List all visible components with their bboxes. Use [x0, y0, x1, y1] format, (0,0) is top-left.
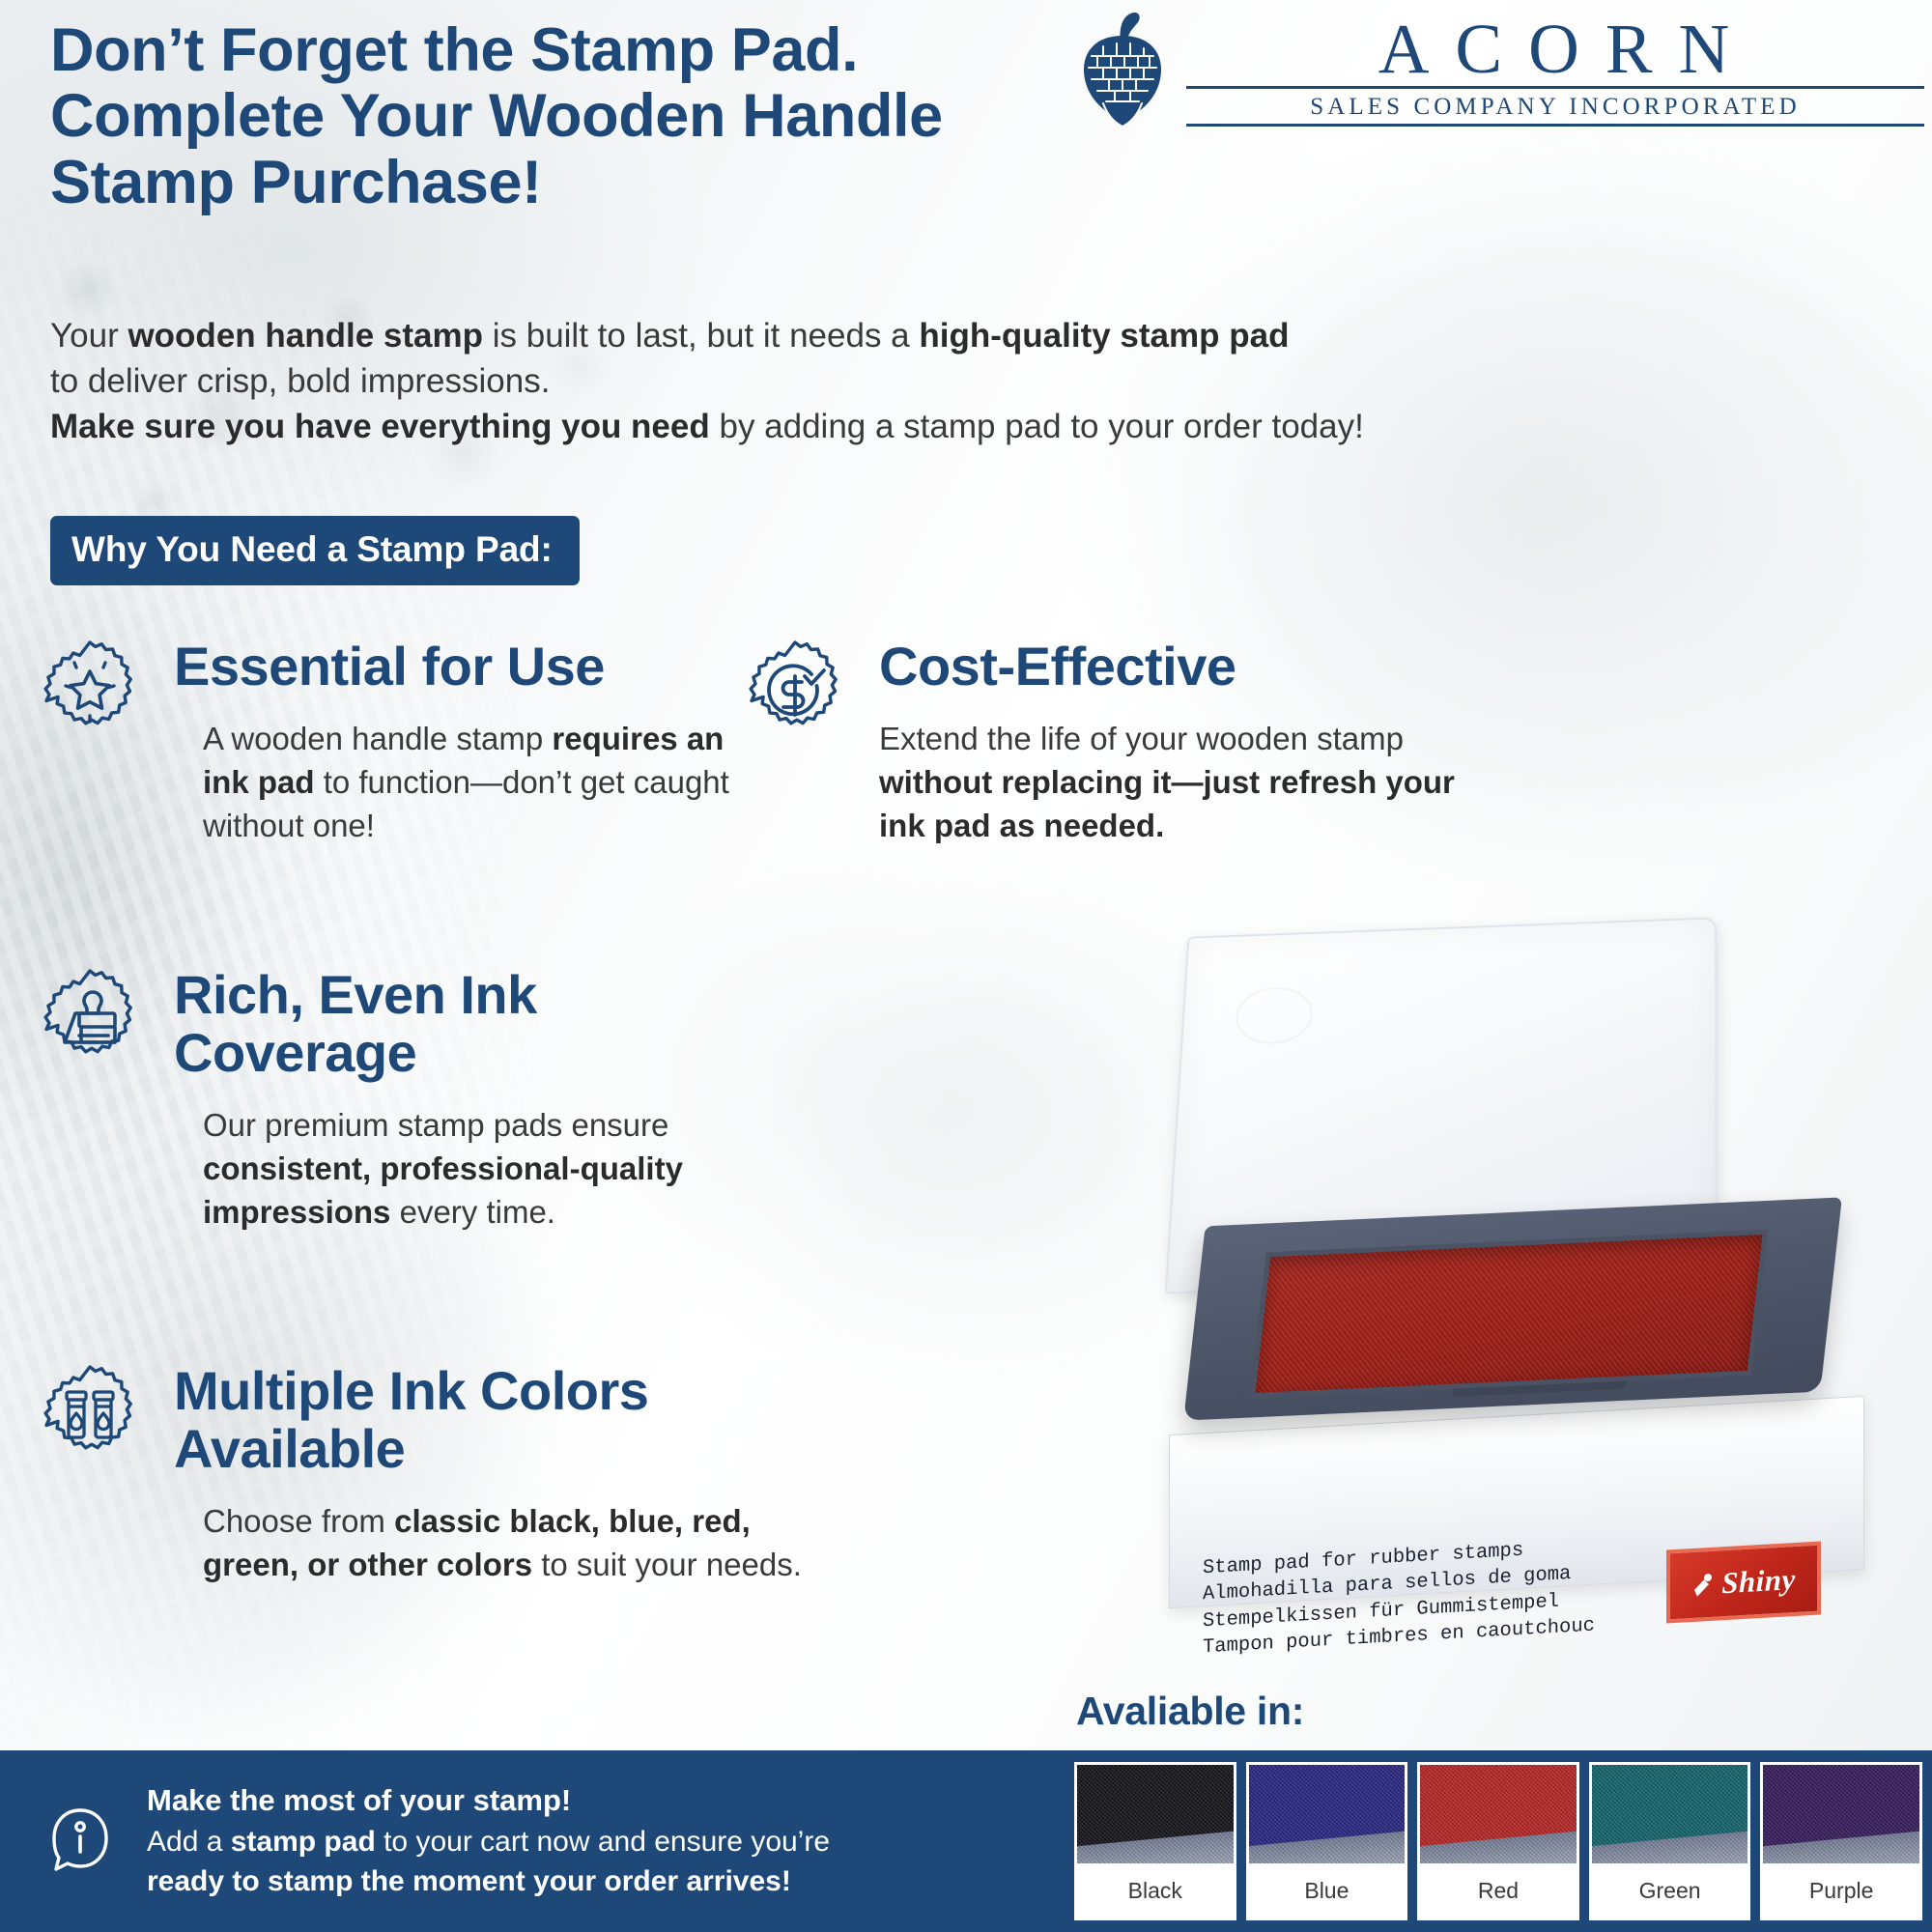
swatch-label: Blue [1249, 1863, 1406, 1918]
swatch-black[interactable]: Black [1074, 1762, 1236, 1920]
color-swatch-strip: Black Blue Red Green Purple [1065, 1750, 1932, 1932]
intro-1a: Your [50, 317, 128, 355]
intro-line-1: Your wooden handle stamp is built to las… [50, 314, 1422, 359]
intro-line-3: Make sure you have everything you need b… [50, 405, 1422, 450]
headline-line-3: Stamp Purchase! [50, 150, 1238, 215]
logo-wordmark: ACORN SALES COMPANY INCORPORATED [1186, 14, 1924, 128]
product-box-label: Stamp pad for rubber stamps Almohadilla … [1203, 1532, 1628, 1662]
feature-text: Choose from classic black, blue, red, gr… [174, 1499, 829, 1586]
infographic-page: Don’t Forget the Stamp Pad. Complete You… [0, 0, 1932, 1932]
cta-text: Make the most of your stamp! Add a stamp… [147, 1780, 830, 1902]
acorn-icon [1074, 12, 1171, 129]
stamp-pad-ink-surface [1250, 1230, 1768, 1399]
feature-text-a: Choose from [203, 1503, 394, 1539]
cta-line-1: Make the most of your stamp! [147, 1780, 830, 1822]
swatch-label: Black [1077, 1863, 1234, 1918]
cta-line-3-text: ready to stamp the moment your order arr… [147, 1865, 791, 1897]
logo-rules: SALES COMPANY INCORPORATED [1186, 86, 1924, 127]
feature-title: Cost-Effective [879, 638, 1505, 696]
intro-1d: high-quality stamp pad [919, 317, 1289, 355]
badge-star-icon [37, 638, 143, 744]
page-title: Don’t Forget the Stamp Pad. Complete You… [50, 17, 1238, 215]
brand-tagline: SALES COMPANY INCORPORATED [1186, 94, 1924, 121]
badge-dollar-check-icon [742, 638, 848, 744]
shiny-brand-badge: Shiny [1666, 1542, 1821, 1624]
cta-line-2b: stamp pad [231, 1826, 376, 1858]
feature-cost-effective: Cost-Effective Extend the life of your w… [742, 638, 1505, 848]
feature-text-a: A wooden handle stamp [203, 721, 552, 756]
feature-body: Essential for Use A wooden handle stamp … [37, 638, 771, 848]
feature-multiple-ink-colors: Multiple Ink Colors Available Choose fro… [37, 1362, 829, 1586]
intro-paragraph: Your wooden handle stamp is built to las… [50, 314, 1422, 450]
headline-line-1: Don’t Forget the Stamp Pad. [50, 17, 1238, 83]
swatch-red[interactable]: Red [1417, 1762, 1579, 1920]
feature-body: Multiple Ink Colors Available Choose fro… [37, 1362, 829, 1586]
swatch-green[interactable]: Green [1589, 1762, 1751, 1920]
feature-rich-even-ink-coverage: Rich, Even Ink Coverage Our premium stam… [37, 966, 752, 1234]
cta-line-2a: Add a [147, 1826, 231, 1858]
feature-text-a: Extend the life of your wooden stamp [879, 721, 1404, 756]
feature-text: Extend the life of your wooden stamp wit… [879, 717, 1505, 848]
feature-text: A wooden handle stamp requires an ink pa… [174, 717, 771, 848]
cta-banner: Make the most of your stamp! Add a stamp… [0, 1750, 1065, 1932]
feature-text-c: to suit your needs. [532, 1547, 802, 1582]
intro-line-2: to deliver crisp, bold impressions. [50, 359, 1422, 405]
product-photo [1092, 923, 1922, 1589]
feature-text-c: every time. [390, 1194, 555, 1230]
swatch-purple[interactable]: Purple [1760, 1762, 1922, 1920]
intro-1c: is built to last, but it needs a [483, 317, 919, 355]
swatch-label: Green [1592, 1863, 1748, 1918]
brand-logo[interactable]: ACORN SALES COMPANY INCORPORATED [1074, 8, 1924, 133]
headline-line-2: Complete Your Wooden Handle [50, 83, 1238, 149]
feature-text-b: without replacing it—just refresh your i… [879, 764, 1455, 843]
brand-name: ACORN [1186, 14, 1924, 84]
cta-line-2c: to your cart now and ensure you’re [376, 1826, 830, 1858]
intro-3b: by adding a stamp pad to your order toda… [710, 408, 1364, 445]
stamp-pad-case [1150, 923, 1864, 1463]
swatch-chip [1763, 1765, 1919, 1863]
cta-line-2: Add a stamp pad to your cart now and ens… [147, 1822, 830, 1861]
swatch-blue[interactable]: Blue [1246, 1762, 1408, 1920]
feature-text: Our premium stamp pads ensure consistent… [174, 1103, 752, 1235]
swatch-label: Red [1420, 1863, 1577, 1918]
badge-ink-bottles-icon [37, 1362, 143, 1468]
shiny-brand-name: Shiny [1721, 1562, 1796, 1601]
feature-body: Cost-Effective Extend the life of your w… [742, 638, 1505, 848]
shiny-logo-icon [1691, 1571, 1717, 1599]
feature-title: Multiple Ink Colors Available [174, 1362, 829, 1478]
swatch-label: Purple [1763, 1863, 1919, 1918]
feature-title: Essential for Use [174, 638, 771, 696]
info-bubble-icon [43, 1804, 118, 1879]
available-in-label: Avaliable in: [1076, 1689, 1304, 1734]
feature-text-a: Our premium stamp pads ensure [203, 1107, 668, 1143]
intro-3a: Make sure you have everything you need [50, 408, 710, 445]
swatch-chip [1592, 1765, 1748, 1863]
swatch-chip [1249, 1765, 1406, 1863]
section-banner-why: Why You Need a Stamp Pad: [50, 516, 580, 585]
swatch-chip [1077, 1765, 1234, 1863]
badge-stamp-icon [37, 966, 143, 1072]
feature-title: Rich, Even Ink Coverage [174, 966, 752, 1082]
feature-body: Rich, Even Ink Coverage Our premium stam… [37, 966, 752, 1234]
feature-essential-for-use: Essential for Use A wooden handle stamp … [37, 638, 771, 848]
cta-line-3: ready to stamp the moment your order arr… [147, 1861, 830, 1901]
intro-1b: wooden handle stamp [128, 317, 483, 355]
swatch-chip [1420, 1765, 1577, 1863]
